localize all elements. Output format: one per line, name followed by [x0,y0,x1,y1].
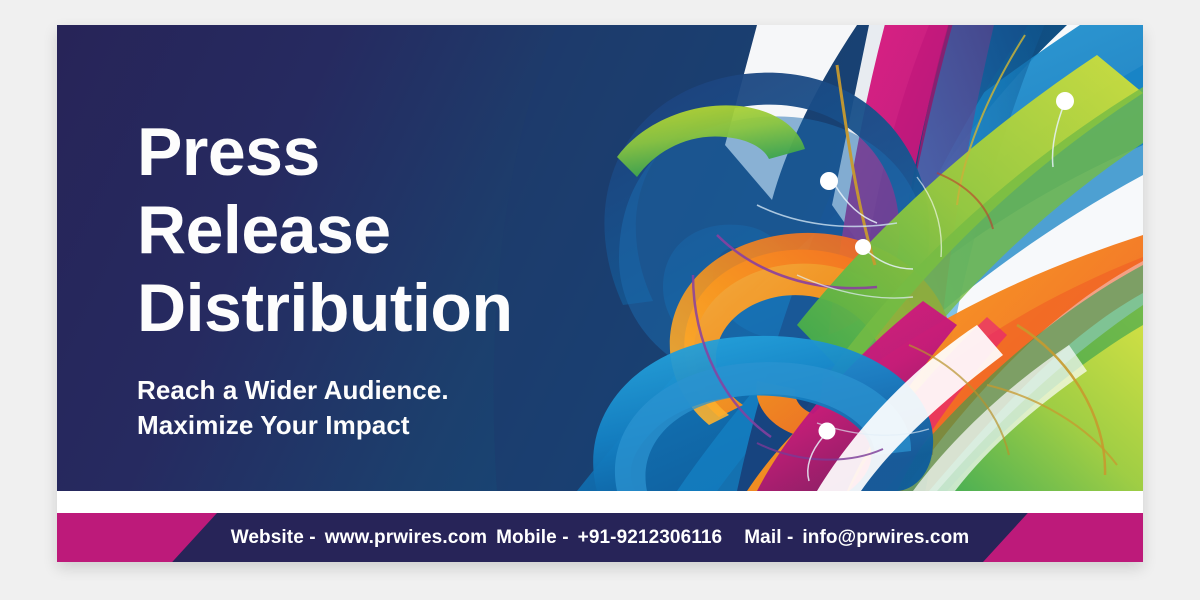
banner-headline: Press Release Distribution [137,113,657,347]
footer-text-row: Website - www.prwires.com Mobile - +91-9… [57,513,1143,562]
subtitle-line-2: Maximize Your Impact [137,408,657,443]
headline-line-2: Release [137,191,657,269]
hero-panel: Press Release Distribution Reach a Wider… [57,25,1143,491]
headline-line-3: Distribution [137,269,657,347]
mail-label: Mail - [744,527,793,549]
headline-line-1: Press [137,113,657,191]
hero-text-block: Press Release Distribution Reach a Wider… [137,113,657,443]
mobile-label: Mobile - [496,527,569,549]
page-background: Press Release Distribution Reach a Wider… [0,0,1200,600]
subtitle-line-1: Reach a Wider Audience. [137,373,657,408]
footer-contact-bar: Website - www.prwires.com Mobile - +91-9… [57,513,1143,562]
mobile-value[interactable]: +91-9212306116 [578,527,723,549]
mail-value[interactable]: info@prwires.com [802,527,969,549]
website-value[interactable]: www.prwires.com [325,527,487,549]
banner-card: Press Release Distribution Reach a Wider… [57,25,1143,562]
website-label: Website - [231,527,316,549]
white-separator-strip [57,491,1143,513]
banner-subtitle: Reach a Wider Audience. Maximize Your Im… [137,373,657,443]
